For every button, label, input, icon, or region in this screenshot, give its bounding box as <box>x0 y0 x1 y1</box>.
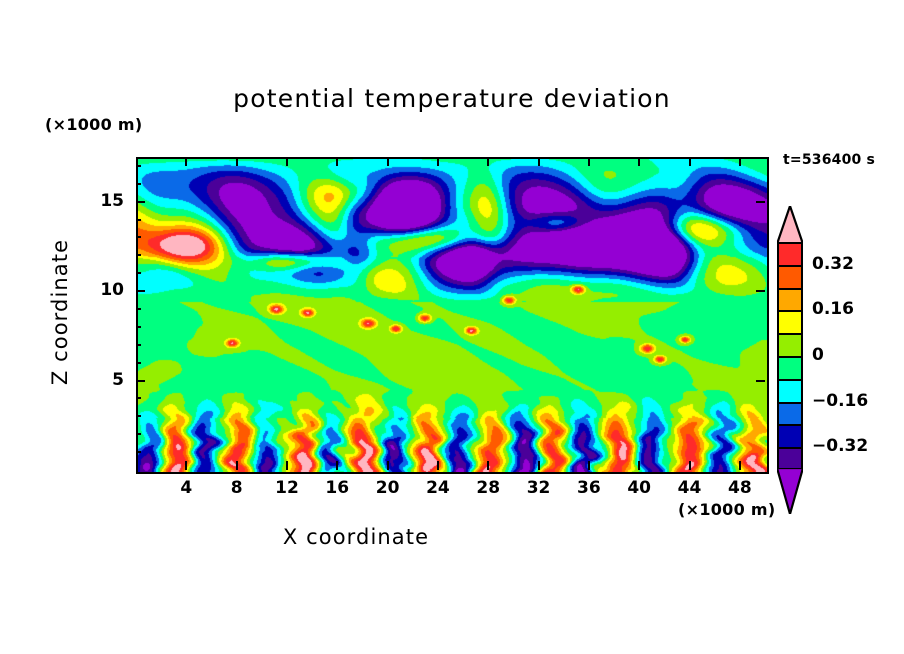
x-axis-tick-label: 48 <box>720 478 760 498</box>
y-axis-minor-tick <box>136 254 141 256</box>
y-axis-minor-tick <box>136 219 141 221</box>
x-axis-tick <box>689 157 691 166</box>
x-axis-tick <box>437 461 439 470</box>
y-axis-minor-tick <box>136 415 141 417</box>
x-axis-tick <box>236 157 238 166</box>
x-axis-tick-label: 40 <box>619 478 659 498</box>
y-axis-tick <box>756 201 765 203</box>
x-axis-tick <box>538 157 540 166</box>
colorbar-band <box>777 265 803 288</box>
page-title: potential temperature deviation <box>0 84 904 113</box>
x-axis-tick <box>487 157 489 166</box>
x-axis-tick <box>689 461 691 470</box>
colorbar-band <box>777 242 803 265</box>
y-axis-minor-tick <box>136 326 141 328</box>
colorbar-band <box>777 356 803 379</box>
x-axis-tick <box>336 157 338 166</box>
x-axis-tick <box>286 157 288 166</box>
x-axis-tick <box>236 461 238 470</box>
x-axis-title: X coordinate <box>0 525 712 549</box>
x-axis-tick <box>638 461 640 470</box>
colorbar-band <box>777 333 803 356</box>
x-axis-tick <box>286 461 288 470</box>
x-axis-tick <box>387 461 389 470</box>
y-axis-tick <box>136 201 145 203</box>
x-axis-tick-label: 20 <box>368 478 408 498</box>
x-axis-tick <box>588 461 590 470</box>
time-annotation: t=536400 s <box>783 152 875 168</box>
x-axis-tick-label: 36 <box>569 478 609 498</box>
x-axis-tick <box>638 157 640 166</box>
colorbar-band <box>777 310 803 333</box>
y-axis-tick-label: 5 <box>84 370 124 390</box>
x-axis-tick-label: 32 <box>519 478 559 498</box>
y-axis-minor-tick <box>136 308 141 310</box>
y-axis-minor-tick <box>136 236 141 238</box>
y-axis-minor-tick <box>136 397 141 399</box>
y-axis-tick <box>136 380 145 382</box>
y-axis-minor-tick <box>136 272 141 274</box>
x-axis-tick <box>538 461 540 470</box>
y-axis-minor-tick <box>136 362 141 364</box>
y-axis-minor-tick <box>136 344 141 346</box>
x-axis-tick <box>739 461 741 470</box>
y-axis-tick <box>756 380 765 382</box>
y-axis-minor-tick <box>136 451 141 453</box>
x-axis-tick <box>739 157 741 166</box>
y-axis-minor-tick <box>136 165 141 167</box>
colorbar-tick-label: 0.32 <box>812 254 854 274</box>
y-axis-tick-label: 15 <box>84 191 124 211</box>
y-axis-tick-label: 10 <box>84 280 124 300</box>
colorbar-top-arrow-cap <box>777 206 803 244</box>
x-axis-tick-label: 4 <box>166 478 206 498</box>
contour-plot-panel <box>136 157 769 474</box>
colorbar-tick-label: 0.16 <box>812 299 854 319</box>
x-axis-tick <box>387 157 389 166</box>
y-axis-tick <box>136 290 145 292</box>
x-axis-tick <box>336 461 338 470</box>
x-axis-tick-label: 28 <box>468 478 508 498</box>
x-axis-tick <box>437 157 439 166</box>
y-axis-minor-tick <box>136 433 141 435</box>
y-axis-tick <box>756 290 765 292</box>
contour-field-canvas <box>138 159 767 472</box>
x-axis-tick-label: 24 <box>418 478 458 498</box>
x-axis-tick-label: 8 <box>217 478 257 498</box>
x-axis-tick-label: 44 <box>670 478 710 498</box>
colorbar-band <box>777 402 803 425</box>
colorbar-tick-label: −0.32 <box>812 436 868 456</box>
colorbar <box>777 242 803 470</box>
x-axis-tick <box>185 157 187 166</box>
x-axis-tick-label: 16 <box>317 478 357 498</box>
x-axis-tick <box>487 461 489 470</box>
colorbar-band <box>777 288 803 311</box>
colorbar-band <box>777 447 803 470</box>
y-axis-title: Z coordinate <box>48 212 72 412</box>
colorbar-tick-label: 0 <box>812 345 824 365</box>
x-axis-tick <box>185 461 187 470</box>
colorbar-band <box>777 424 803 447</box>
colorbar-tick-label: −0.16 <box>812 391 868 411</box>
x-axis-units-label: (×1000 m) <box>678 500 776 519</box>
colorbar-band <box>777 379 803 402</box>
x-axis-tick-label: 12 <box>267 478 307 498</box>
x-axis-tick <box>588 157 590 166</box>
y-axis-units-label: (×1000 m) <box>45 115 143 134</box>
y-axis-minor-tick <box>136 183 141 185</box>
colorbar-bottom-arrow-cap <box>777 468 803 514</box>
